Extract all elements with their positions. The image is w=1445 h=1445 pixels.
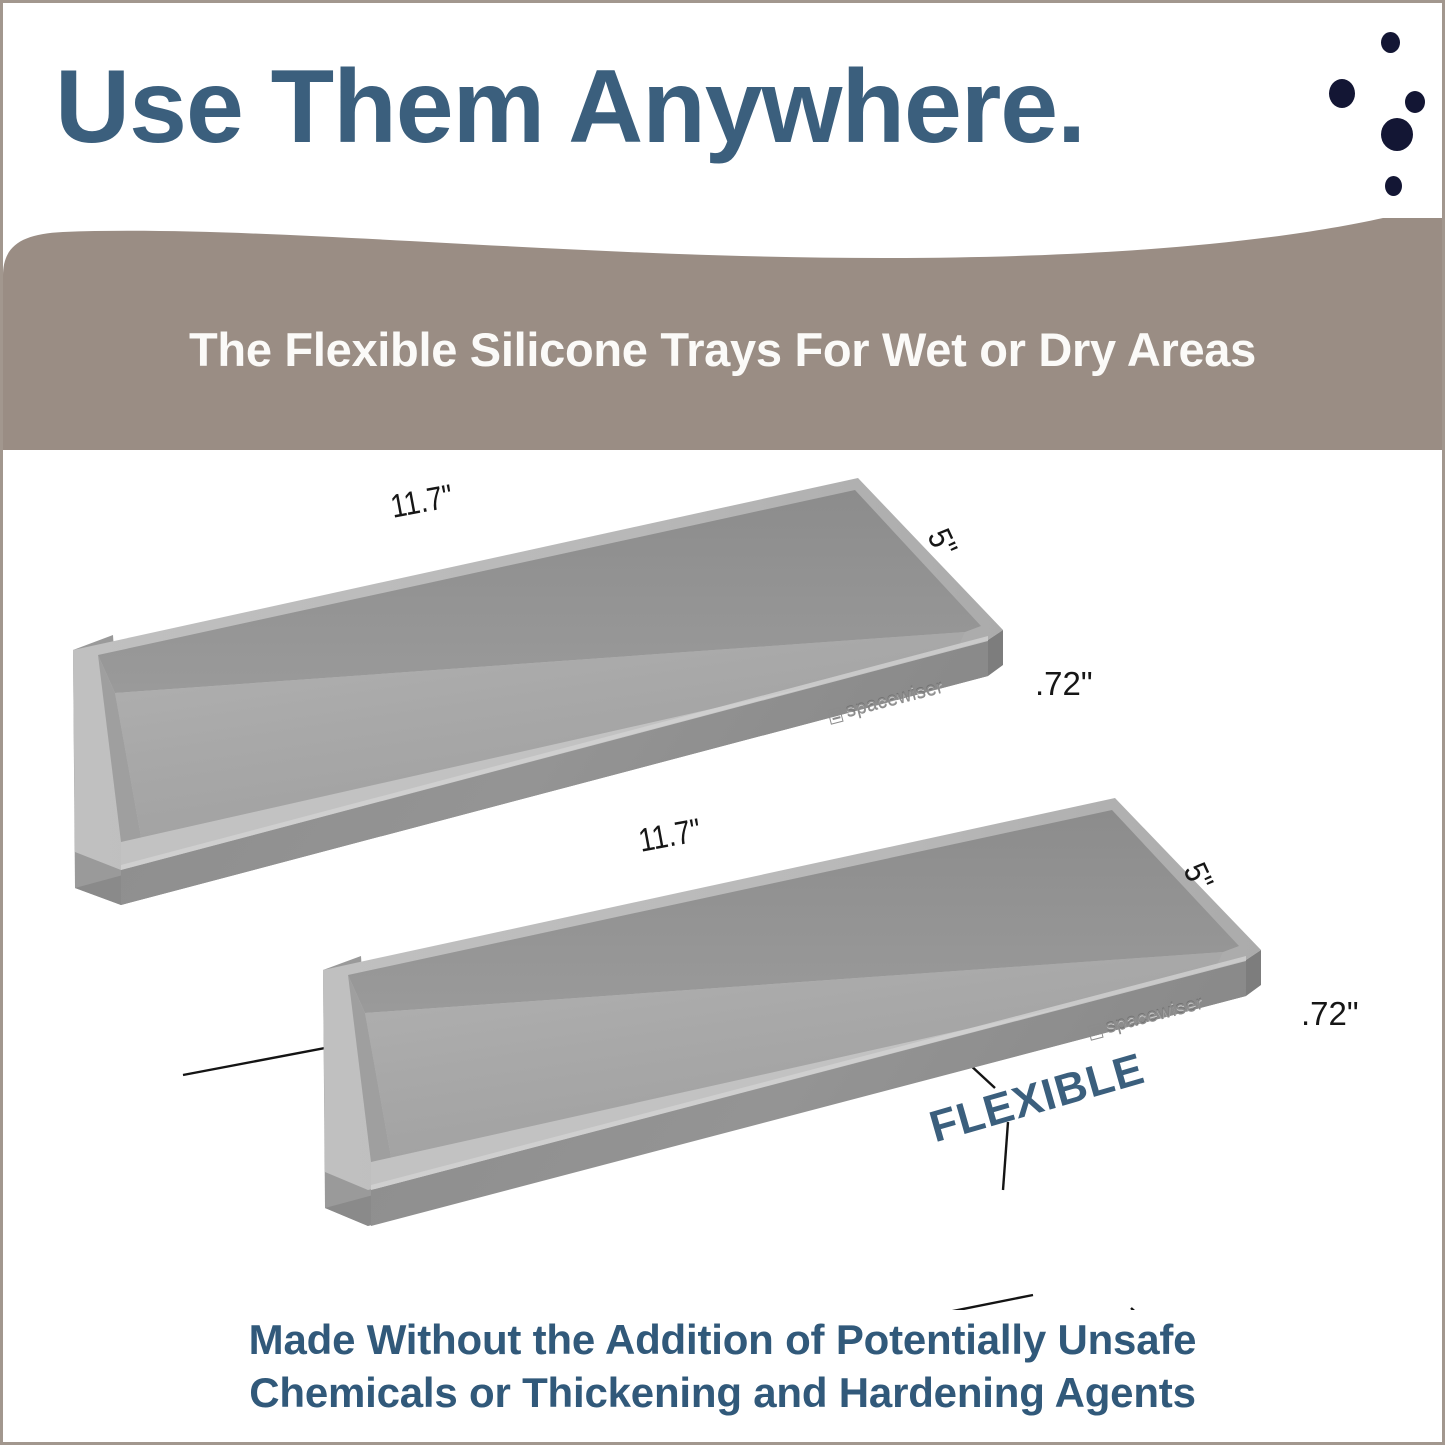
product-stage: 11.7" 5" .72" 11.7" 5" .72" spacewiser s…: [3, 450, 1442, 1310]
dot-icon: [1385, 176, 1402, 196]
tray-lower-height-label: .72": [1301, 995, 1359, 1033]
footer-line-2: Chemicals or Thickening and Hardening Ag…: [3, 1367, 1442, 1420]
tray-lower-length-line: [433, 1295, 1033, 1310]
banner-tagline: The Flexible Silicone Trays For Wet or D…: [3, 322, 1442, 377]
trays-illustration: [3, 450, 1445, 1310]
footer-copy: Made Without the Addition of Potentially…: [3, 1314, 1442, 1420]
dot-icon: [1381, 32, 1400, 53]
decorative-dots: [1298, 23, 1445, 173]
spacewiser-mark-icon: [1087, 1022, 1103, 1040]
dot-icon: [1381, 118, 1413, 151]
page-title: Use Them Anywhere.: [55, 55, 1085, 159]
dot-icon: [1329, 79, 1355, 108]
product-infographic: Use Them Anywhere. The Flexible Silicone…: [0, 0, 1445, 1445]
footer-line-1: Made Without the Addition of Potentially…: [3, 1314, 1442, 1367]
spacewiser-mark-icon: [827, 706, 843, 724]
headline-area: Use Them Anywhere.: [3, 3, 1442, 243]
tray-lower-width-line: [1131, 1308, 1251, 1310]
dot-icon: [1405, 91, 1425, 113]
tray-upper-height-label: .72": [1035, 665, 1093, 703]
tagline-banner: The Flexible Silicone Trays For Wet or D…: [3, 218, 1442, 450]
